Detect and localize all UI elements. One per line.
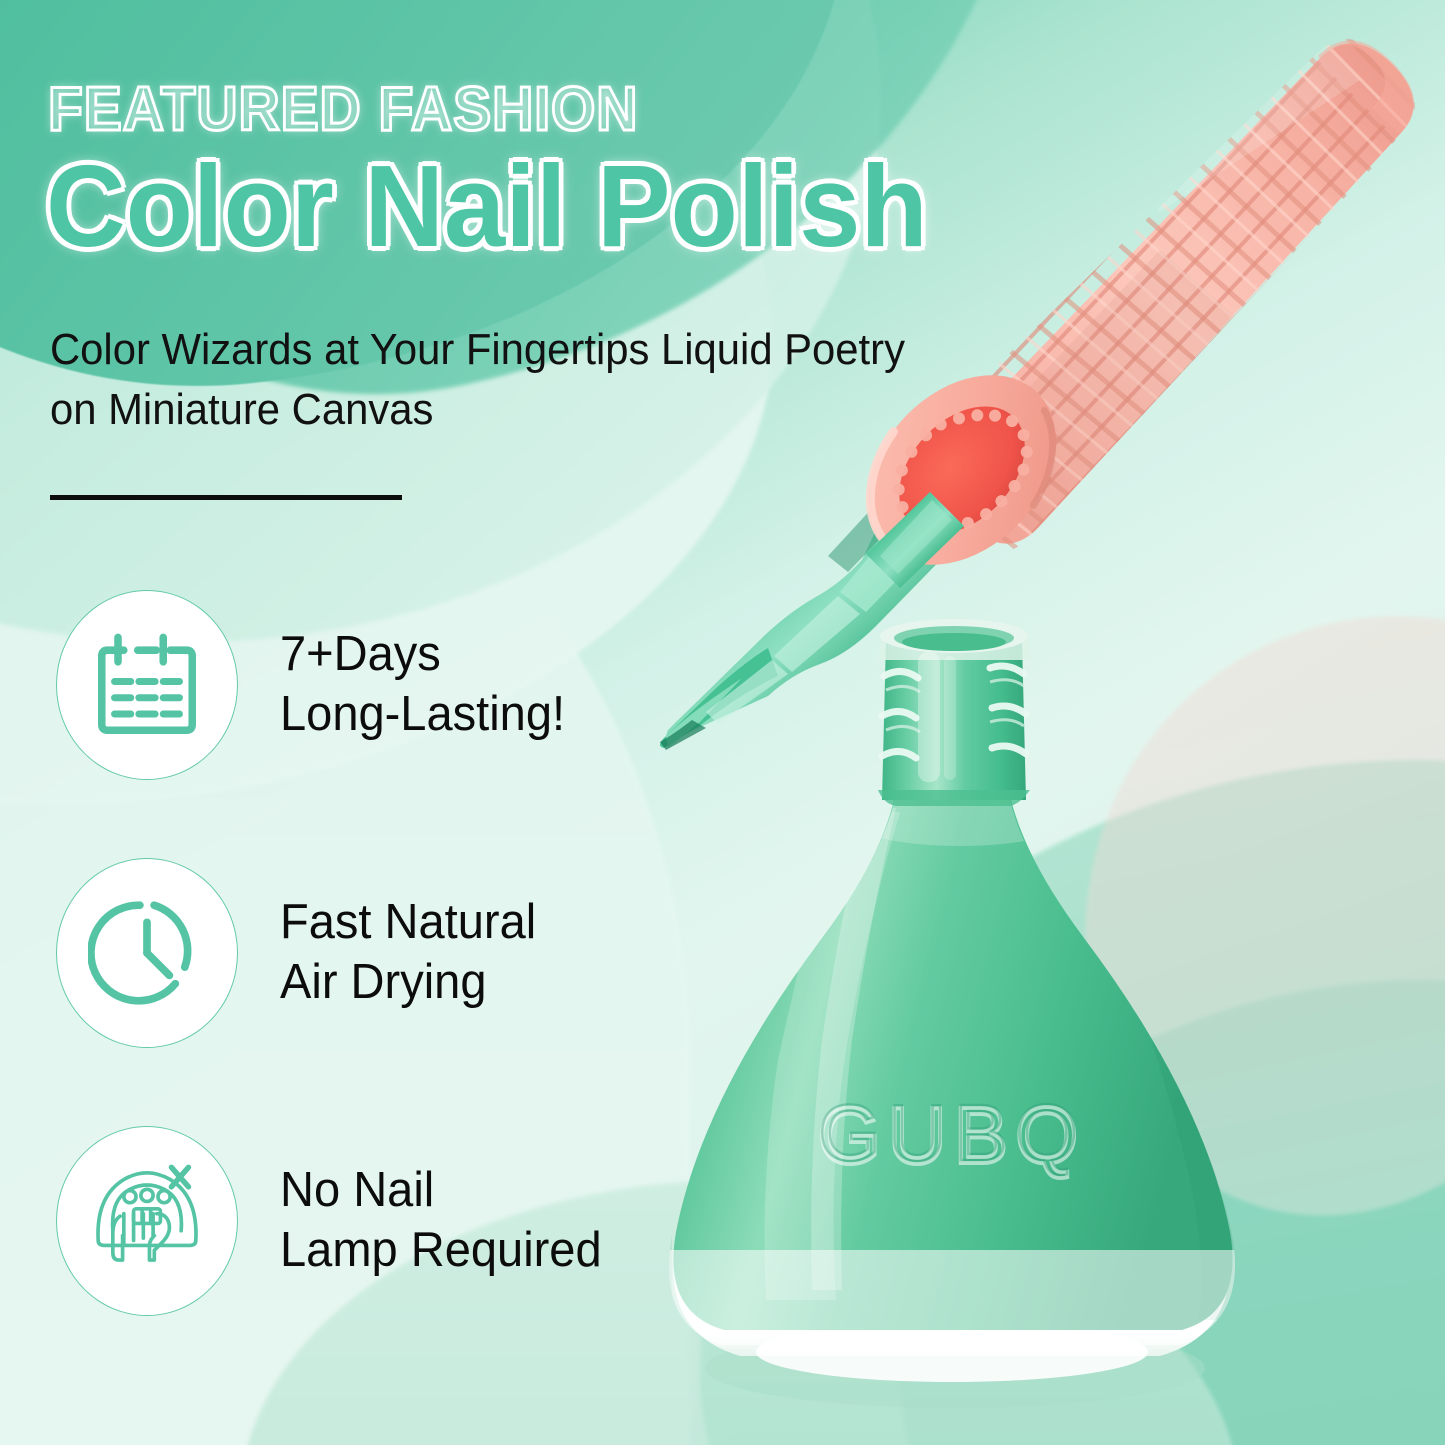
feature-item-no-lamp: No Nail Lamp Required bbox=[56, 1126, 696, 1316]
no-nail-lamp-icon bbox=[86, 1160, 208, 1282]
calendar-icon bbox=[89, 627, 205, 743]
feature-item-long-lasting: 7+Days Long-Lasting! bbox=[56, 590, 696, 780]
divider-line bbox=[50, 495, 402, 500]
page-title: Color Nail Polish bbox=[46, 148, 928, 264]
feature-icon-badge bbox=[56, 590, 238, 780]
feature-icon-badge bbox=[56, 1126, 238, 1316]
feature-icon-badge bbox=[56, 858, 238, 1048]
feature-item-fast-drying: Fast Natural Air Drying bbox=[56, 858, 696, 1048]
eyebrow-text: FEATURED FASHION bbox=[48, 74, 638, 145]
feature-label: No Nail Lamp Required bbox=[280, 1161, 602, 1281]
feature-label: 7+Days Long-Lasting! bbox=[280, 625, 565, 745]
feature-label: Fast Natural Air Drying bbox=[280, 893, 536, 1013]
clock-icon bbox=[88, 894, 206, 1012]
product-poster: GUBQ GUBQ bbox=[0, 0, 1445, 1445]
feature-list: 7+Days Long-Lasting! Fast Natural Air Dr… bbox=[56, 590, 696, 1394]
subtitle-text: Color Wizards at Your Fingertips Liquid … bbox=[50, 320, 905, 440]
